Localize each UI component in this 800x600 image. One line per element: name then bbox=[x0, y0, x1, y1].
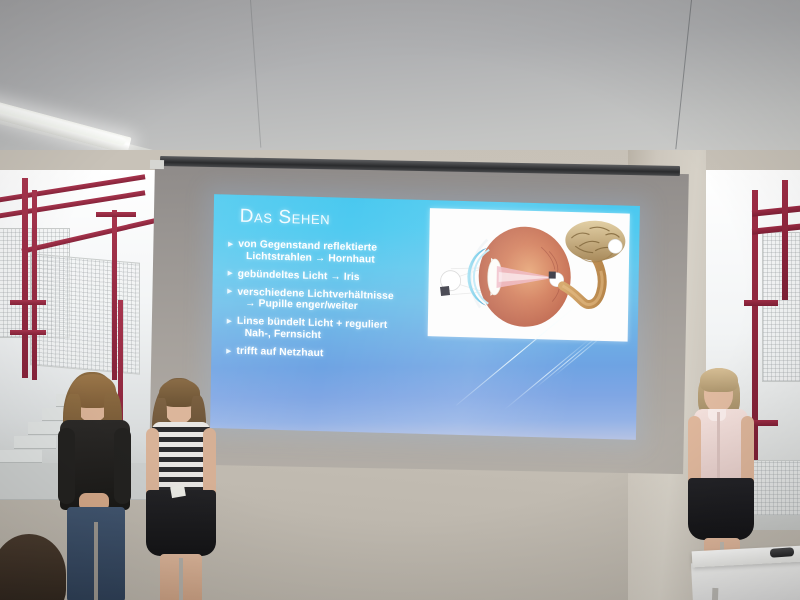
leg-gap bbox=[179, 558, 183, 600]
arm-right bbox=[203, 428, 216, 498]
arm-left bbox=[58, 428, 75, 504]
bullet-4-line-2: Nah-, Fernsicht bbox=[237, 328, 442, 345]
slide-title: Das Sehen bbox=[240, 206, 331, 231]
bullet-5-line-1: trifft auf Netzhaut bbox=[236, 346, 323, 359]
railing-crossbar-right bbox=[744, 300, 778, 306]
torso-striped-top bbox=[152, 422, 210, 494]
slide-bullet-list: von Gegenstand reflektierte Lichtstrahle… bbox=[225, 238, 443, 369]
hair-front bbox=[700, 368, 738, 392]
slide-bullet-3: verschiedene Lichtverhältnisse → Pupille… bbox=[226, 286, 442, 315]
right-mesh-panel bbox=[762, 232, 800, 382]
railing-post-left-1 bbox=[22, 178, 28, 378]
table-leg bbox=[712, 588, 719, 600]
streak-1 bbox=[456, 305, 581, 411]
slide-bullet-2: gebündeltes Licht → Iris bbox=[227, 268, 443, 286]
button-placket bbox=[717, 412, 720, 480]
railing-post-right-2 bbox=[782, 180, 788, 300]
streak-4 bbox=[553, 332, 608, 378]
streak-2 bbox=[504, 338, 591, 410]
slide-light-streaks bbox=[456, 305, 638, 440]
railing-post-left-2 bbox=[32, 190, 37, 380]
arm-right bbox=[114, 428, 131, 504]
skirt bbox=[146, 490, 216, 556]
ceiling-seam bbox=[675, 0, 692, 149]
slide-bullet-1: von Gegenstand reflektierte Lichtstrahle… bbox=[227, 238, 443, 267]
slide-surface: Das Sehen von Gegenstand reflektierte Li… bbox=[210, 194, 640, 440]
railing-crossbar-left bbox=[96, 212, 136, 217]
slide-bullet-4: Linse bündelt Licht + reguliert Nah-, Fe… bbox=[226, 316, 442, 345]
streak-3 bbox=[534, 333, 601, 389]
railing-bottom-left bbox=[10, 300, 46, 305]
classroom-photo: Das Sehen von Gegenstand reflektierte Li… bbox=[0, 0, 800, 600]
bullet-3-line-2: → Pupille enger/weiter bbox=[237, 298, 442, 315]
projection-screen-roller-cap bbox=[150, 160, 164, 169]
slide-bullet-5: trifft auf Netzhaut bbox=[225, 346, 441, 364]
skirt bbox=[688, 478, 754, 540]
projected-slide: Das Sehen von Gegenstand reflektierte Li… bbox=[210, 194, 640, 440]
railing-bottom-left-2 bbox=[10, 330, 46, 335]
ceiling-seam-secondary bbox=[250, 0, 261, 148]
student-middle bbox=[140, 378, 222, 600]
leg-gap bbox=[94, 522, 98, 600]
bullet-1-line-2: Lichtstrahlen → Hornhaut bbox=[238, 250, 443, 267]
railing-post-left-3 bbox=[112, 210, 117, 380]
bullet-2-line-1: gebündeltes Licht → Iris bbox=[238, 268, 360, 282]
presenter-remote-icon bbox=[770, 547, 795, 558]
left-mesh-panel-lower bbox=[30, 253, 140, 375]
arm-left bbox=[146, 428, 159, 498]
